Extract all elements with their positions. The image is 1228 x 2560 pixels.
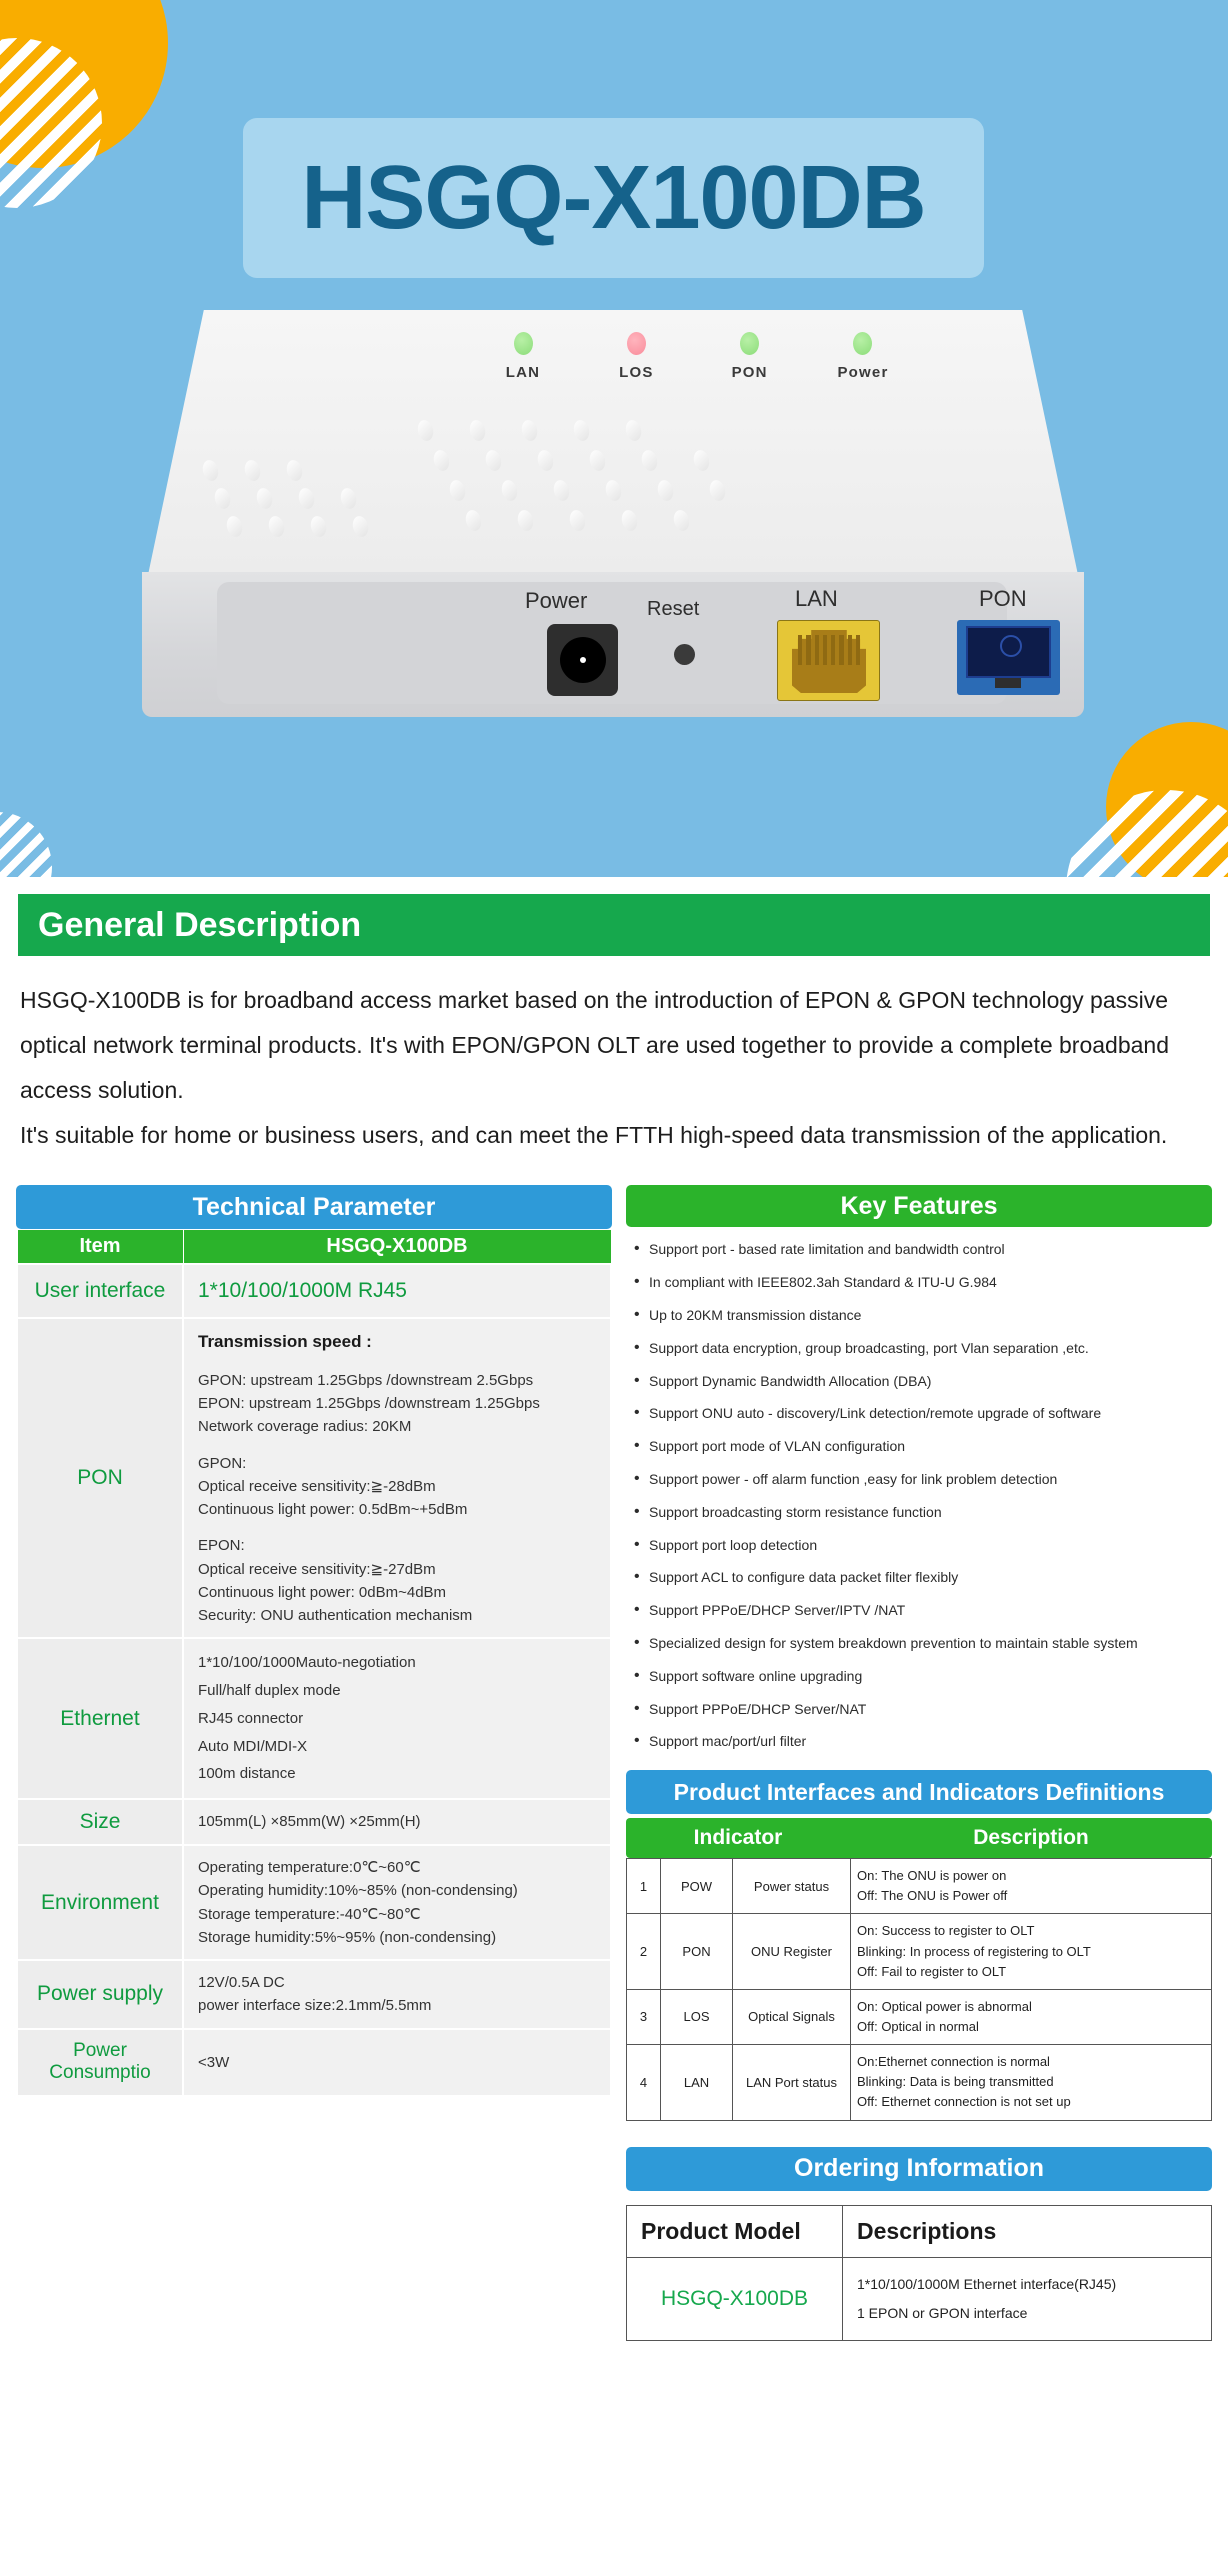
key-feature-item: Support port loop detection bbox=[632, 1537, 1212, 1554]
device-photo: LAN LOS PON Power Power bbox=[148, 310, 1078, 760]
indicator-description-line: On: Success to register to OLT bbox=[857, 1921, 1205, 1941]
pon-latch bbox=[995, 678, 1021, 688]
power-jack-pin bbox=[580, 657, 586, 663]
led-pon-icon bbox=[740, 332, 759, 355]
vent-dimple bbox=[552, 478, 572, 502]
led-lan: LAN bbox=[478, 332, 568, 381]
indicators-table-header: Indicator Description bbox=[626, 1818, 1212, 1858]
content-columns: Technical Parameter ItemHSGQ-X100DBUser … bbox=[16, 1185, 1212, 2341]
vent-dimple bbox=[620, 508, 640, 532]
indicator-code: LOS bbox=[661, 1989, 733, 2044]
ordering-description-line: 1*10/100/1000M Ethernet interface(RJ45) bbox=[857, 2270, 1197, 2299]
vent-dimple bbox=[536, 448, 556, 472]
value-line: 1*10/100/1000Mauto-negotiation bbox=[198, 1649, 596, 1677]
value-block-title: Transmission speed : bbox=[198, 1332, 372, 1351]
table-row: PONTransmission speed :GPON: upstream 1.… bbox=[17, 1318, 611, 1638]
value-line: EPON: upstream 1.25Gbps /downstream 1.25… bbox=[198, 1392, 596, 1415]
port-label-reset: Reset bbox=[647, 598, 699, 621]
technical-parameter-column-model: HSGQ-X100DB bbox=[183, 1230, 611, 1264]
ordering-table: Product ModelDescriptionsHSGQ-X100DB1*10… bbox=[626, 2205, 1212, 2342]
vent-dimple bbox=[604, 478, 624, 502]
power-jack-port bbox=[547, 624, 618, 696]
led-los-label: LOS bbox=[619, 364, 653, 381]
table-row: EnvironmentOperating temperature:0℃~60℃O… bbox=[17, 1845, 611, 1960]
value-line: Storage temperature:-40℃~80℃ bbox=[198, 1903, 596, 1926]
value-line: Security: ONU authentication mechanism bbox=[198, 1604, 596, 1627]
technical-parameter-item-label: Environment bbox=[17, 1845, 183, 1960]
pon-sc-socket bbox=[966, 626, 1051, 678]
device-front-panel: Power Reset LAN PON bbox=[142, 572, 1084, 717]
striped-circle-decoration-bottom-right bbox=[1066, 790, 1228, 877]
key-feature-item: Support broadcasting storm resistance fu… bbox=[632, 1504, 1212, 1521]
value-block: 12V/0.5A DCpower interface size:2.1mm/5.… bbox=[198, 1971, 596, 2018]
page-title: HSGQ-X100DB bbox=[301, 147, 925, 250]
indicator-description-line: Off: Optical in normal bbox=[857, 2017, 1205, 2037]
hero-banner: HSGQ-X100DB LAN LOS PON Power bbox=[0, 0, 1228, 877]
ordering-header-row: Product ModelDescriptions bbox=[627, 2205, 1212, 2257]
indicator-description-line: Off: Fail to register to OLT bbox=[857, 1962, 1205, 1982]
key-feature-item: Support Dynamic Bandwidth Allocation (DB… bbox=[632, 1373, 1212, 1390]
indicator-name: Power status bbox=[733, 1859, 851, 1914]
key-feature-item: Support PPPoE/DHCP Server/IPTV /NAT bbox=[632, 1602, 1212, 1619]
indicator-description: On:Ethernet connection is normalBlinking… bbox=[851, 2045, 1212, 2120]
led-power-label: Power bbox=[837, 364, 888, 381]
orange-circle-decoration-top-left bbox=[0, 0, 168, 168]
table-row: Size105mm(L) ×85mm(W) ×25mm(H) bbox=[17, 1799, 611, 1845]
power-jack-hole bbox=[560, 637, 606, 683]
orange-circle-decoration-bottom-right bbox=[1106, 722, 1228, 877]
vent-dimple-pattern bbox=[418, 420, 838, 550]
general-description-paragraph-1: HSGQ-X100DB is for broadband access mark… bbox=[20, 978, 1208, 1113]
indicators-column-description: Description bbox=[850, 1818, 1212, 1858]
key-features-list: Support port - based rate limitation and… bbox=[632, 1241, 1212, 1750]
vent-dimple bbox=[692, 448, 712, 472]
key-feature-item: Support data encryption, group broadcast… bbox=[632, 1340, 1212, 1357]
vent-dimple bbox=[225, 514, 245, 538]
vent-dimple bbox=[432, 448, 452, 472]
value-line: Storage humidity:5%~95% (non-condensing) bbox=[198, 1926, 596, 1949]
led-power: Power bbox=[818, 332, 908, 381]
vent-dimple-pattern-side bbox=[203, 460, 383, 570]
vent-dimple bbox=[201, 458, 221, 482]
technical-parameter-table: ItemHSGQ-X100DBUser interface1*10/100/10… bbox=[16, 1229, 612, 2097]
technical-parameter-value: Transmission speed :GPON: upstream 1.25G… bbox=[183, 1318, 611, 1638]
value-line: GPON: bbox=[198, 1452, 596, 1475]
value-line: power interface size:2.1mm/5.5mm bbox=[198, 1994, 596, 2017]
pon-ferrule-icon bbox=[1000, 635, 1022, 657]
indicator-number: 3 bbox=[627, 1989, 661, 2044]
key-feature-item: Support PPPoE/DHCP Server/NAT bbox=[632, 1701, 1212, 1718]
lan-rj45-pins bbox=[798, 635, 860, 665]
key-feature-item: Support port - based rate limitation and… bbox=[632, 1241, 1212, 1258]
indicators-heading: Product Interfaces and Indicators Defini… bbox=[626, 1770, 1212, 1814]
ordering-heading: Ordering Information bbox=[626, 2147, 1212, 2191]
vent-dimple bbox=[484, 448, 504, 472]
indicator-description-line: Blinking: In process of registering to O… bbox=[857, 1942, 1205, 1962]
product-title-panel: HSGQ-X100DB bbox=[243, 118, 984, 278]
general-description-paragraph-2: It's suitable for home or business users… bbox=[20, 1113, 1208, 1158]
key-feature-item: Specialized design for system breakdown … bbox=[632, 1635, 1212, 1652]
value-line: Operating temperature:0℃~60℃ bbox=[198, 1856, 596, 1879]
ordering-model: HSGQ-X100DB bbox=[627, 2257, 843, 2341]
value-block: GPON:Optical receive sensitivity:≧-28dBm… bbox=[198, 1452, 596, 1522]
ordering-description: 1*10/100/1000M Ethernet interface(RJ45)1… bbox=[843, 2257, 1212, 2341]
ordering-column-descriptions: Descriptions bbox=[843, 2205, 1212, 2257]
vent-dimple bbox=[255, 486, 275, 510]
value-line: Optical receive sensitivity:≧-28dBm bbox=[198, 1475, 596, 1498]
technical-parameter-item-label: Size bbox=[17, 1799, 183, 1845]
table-row: Power Consumptio<3W bbox=[17, 2029, 611, 2097]
vent-dimple bbox=[572, 418, 592, 442]
vent-dimple bbox=[568, 508, 588, 532]
value-block: 1*10/100/1000Mauto-negotiationFull/half … bbox=[198, 1649, 596, 1788]
vent-dimple bbox=[656, 478, 676, 502]
indicator-description-line: On: Optical power is abnormal bbox=[857, 1997, 1205, 2017]
technical-parameter-heading: Technical Parameter bbox=[16, 1185, 612, 1229]
technical-parameter-value: 12V/0.5A DCpower interface size:2.1mm/5.… bbox=[183, 1960, 611, 2029]
pon-sc-port bbox=[957, 620, 1060, 695]
right-column: Key Features Support port - based rate l… bbox=[626, 1185, 1212, 2341]
key-feature-item: Support mac/port/url filter bbox=[632, 1733, 1212, 1750]
indicator-description-line: On: The ONU is power on bbox=[857, 1866, 1205, 1886]
value-block: GPON: upstream 1.25Gbps /downstream 2.5G… bbox=[198, 1369, 596, 1439]
vent-dimple bbox=[448, 478, 468, 502]
value-line: EPON: bbox=[198, 1534, 596, 1557]
value-line: Continuous light power: 0dBm~4dBm bbox=[198, 1581, 596, 1604]
key-feature-item: Support power - off alarm function ,easy… bbox=[632, 1471, 1212, 1488]
technical-parameter-section: Technical Parameter ItemHSGQ-X100DBUser … bbox=[16, 1185, 612, 2097]
key-feature-item: Up to 20KM transmission distance bbox=[632, 1307, 1212, 1324]
vent-dimple bbox=[285, 458, 305, 482]
value-line: Auto MDI/MDI-X bbox=[198, 1733, 596, 1761]
port-label-power: Power bbox=[525, 588, 587, 614]
indicator-row: 1POWPower statusOn: The ONU is power onO… bbox=[627, 1859, 1212, 1914]
indicators-column-indicator: Indicator bbox=[626, 1818, 850, 1858]
general-description-heading: General Description bbox=[18, 894, 1210, 956]
technical-parameter-item-label: Power Consumptio bbox=[17, 2029, 183, 2097]
indicator-row: 2PONONU RegisterOn: Success to register … bbox=[627, 1914, 1212, 1989]
indicator-row: 4LANLAN Port statusOn:Ethernet connectio… bbox=[627, 2045, 1212, 2120]
value-block: Transmission speed : bbox=[198, 1329, 596, 1355]
vent-dimple bbox=[500, 478, 520, 502]
key-feature-item: Support software online upgrading bbox=[632, 1668, 1212, 1685]
technical-parameter-item-label: PON bbox=[17, 1318, 183, 1638]
value-line: Optical receive sensitivity:≧-27dBm bbox=[198, 1558, 596, 1581]
indicator-description-line: Off: Ethernet connection is not set up bbox=[857, 2092, 1205, 2112]
value-line: Network coverage radius: 20KM bbox=[198, 1415, 596, 1438]
striped-circle-decoration-bottom-left bbox=[0, 812, 52, 877]
vent-dimple bbox=[520, 418, 540, 442]
vent-dimple bbox=[672, 508, 692, 532]
indicator-description-line: On:Ethernet connection is normal bbox=[857, 2052, 1205, 2072]
indicator-code: PON bbox=[661, 1914, 733, 1989]
indicator-number: 2 bbox=[627, 1914, 661, 1989]
technical-parameter-value: 1*10/100/1000Mauto-negotiationFull/half … bbox=[183, 1638, 611, 1799]
value-line: Full/half duplex mode bbox=[198, 1677, 596, 1705]
indicator-row: 3LOSOptical SignalsOn: Optical power is … bbox=[627, 1989, 1212, 2044]
value-line: 12V/0.5A DC bbox=[198, 1971, 596, 1994]
key-feature-item: In compliant with IEEE802.3ah Standard &… bbox=[632, 1274, 1212, 1291]
technical-parameter-value: 105mm(L) ×85mm(W) ×25mm(H) bbox=[183, 1799, 611, 1845]
vent-dimple bbox=[309, 514, 329, 538]
led-lan-label: LAN bbox=[506, 364, 540, 381]
vent-dimple bbox=[243, 458, 263, 482]
value-line: Continuous light power: 0.5dBm~+5dBm bbox=[198, 1498, 596, 1521]
indicator-description: On: Optical power is abnormalOff: Optica… bbox=[851, 1989, 1212, 2044]
technical-parameter-item-label: User interface bbox=[17, 1264, 183, 1319]
key-feature-item: Support ONU auto - discovery/Link detect… bbox=[632, 1405, 1212, 1422]
led-indicator-row: LAN LOS PON Power bbox=[478, 332, 908, 381]
ordering-row: HSGQ-X100DB1*10/100/1000M Ethernet inter… bbox=[627, 2257, 1212, 2341]
lan-rj45-port bbox=[777, 620, 880, 701]
ordering-column-model: Product Model bbox=[627, 2205, 843, 2257]
indicator-description: On: The ONU is power onOff: The ONU is P… bbox=[851, 1859, 1212, 1914]
technical-parameter-item-label: Ethernet bbox=[17, 1638, 183, 1799]
vent-dimple bbox=[624, 418, 644, 442]
value-line: RJ45 connector bbox=[198, 1705, 596, 1733]
technical-parameter-value: <3W bbox=[183, 2029, 611, 2097]
port-label-lan: LAN bbox=[795, 586, 838, 612]
led-pon-label: PON bbox=[732, 364, 768, 381]
device-top-shell: LAN LOS PON Power bbox=[148, 310, 1078, 575]
indicator-number: 4 bbox=[627, 2045, 661, 2120]
technical-parameter-value: 1*10/100/1000M RJ45 bbox=[183, 1264, 611, 1319]
key-feature-item: Support ACL to configure data packet fil… bbox=[632, 1569, 1212, 1586]
led-lan-icon bbox=[514, 332, 533, 355]
led-power-icon bbox=[853, 332, 872, 355]
value-block: Operating temperature:0℃~60℃Operating hu… bbox=[198, 1856, 596, 1949]
vent-dimple bbox=[297, 486, 317, 510]
led-los-icon bbox=[627, 332, 646, 355]
technical-parameter-value: Operating temperature:0℃~60℃Operating hu… bbox=[183, 1845, 611, 1960]
reset-button-hole bbox=[674, 644, 695, 665]
led-pon: PON bbox=[705, 332, 795, 381]
indicator-description-line: Blinking: Data is being transmitted bbox=[857, 2072, 1205, 2092]
indicator-code: LAN bbox=[661, 2045, 733, 2120]
table-row: Power supply12V/0.5A DCpower interface s… bbox=[17, 1960, 611, 2029]
table-row: Ethernet1*10/100/1000Mauto-negotiationFu… bbox=[17, 1638, 611, 1799]
ordering-description-line: 1 EPON or GPON interface bbox=[857, 2299, 1197, 2328]
vent-dimple bbox=[339, 486, 359, 510]
indicators-table: 1POWPower statusOn: The ONU is power onO… bbox=[626, 1858, 1212, 2120]
indicator-description: On: Success to register to OLTBlinking: … bbox=[851, 1914, 1212, 1989]
technical-parameter-item-label: Power supply bbox=[17, 1960, 183, 2029]
technical-parameter-column-item: Item bbox=[17, 1230, 183, 1264]
table-header-row: ItemHSGQ-X100DB bbox=[17, 1230, 611, 1264]
vent-dimple bbox=[516, 508, 536, 532]
port-label-pon: PON bbox=[979, 586, 1027, 612]
striped-circle-decoration-top-left bbox=[0, 38, 102, 208]
indicator-code: POW bbox=[661, 1859, 733, 1914]
vent-dimple bbox=[267, 514, 287, 538]
vent-dimple bbox=[213, 486, 233, 510]
indicator-number: 1 bbox=[627, 1859, 661, 1914]
value-line: GPON: upstream 1.25Gbps /downstream 2.5G… bbox=[198, 1369, 596, 1392]
key-features-heading: Key Features bbox=[626, 1185, 1212, 1227]
vent-dimple bbox=[588, 448, 608, 472]
table-row: User interface1*10/100/1000M RJ45 bbox=[17, 1264, 611, 1319]
key-feature-item: Support port mode of VLAN configuration bbox=[632, 1438, 1212, 1455]
vent-dimple bbox=[640, 448, 660, 472]
indicator-name: Optical Signals bbox=[733, 1989, 851, 2044]
vent-dimple bbox=[464, 508, 484, 532]
led-los: LOS bbox=[591, 332, 681, 381]
value-line: Operating humidity:10%~85% (non-condensi… bbox=[198, 1879, 596, 1902]
port-panel-inset: Power Reset LAN PON bbox=[217, 582, 1007, 704]
indicator-name: ONU Register bbox=[733, 1914, 851, 1989]
value-line: 100m distance bbox=[198, 1760, 596, 1788]
vent-dimple bbox=[468, 418, 488, 442]
indicator-name: LAN Port status bbox=[733, 2045, 851, 2120]
vent-dimple bbox=[708, 478, 728, 502]
vent-dimple bbox=[416, 418, 436, 442]
general-description-body: HSGQ-X100DB is for broadband access mark… bbox=[20, 978, 1208, 1157]
indicator-description-line: Off: The ONU is Power off bbox=[857, 1886, 1205, 1906]
value-block: EPON:Optical receive sensitivity:≧-27dBm… bbox=[198, 1534, 596, 1627]
vent-dimple bbox=[351, 514, 371, 538]
